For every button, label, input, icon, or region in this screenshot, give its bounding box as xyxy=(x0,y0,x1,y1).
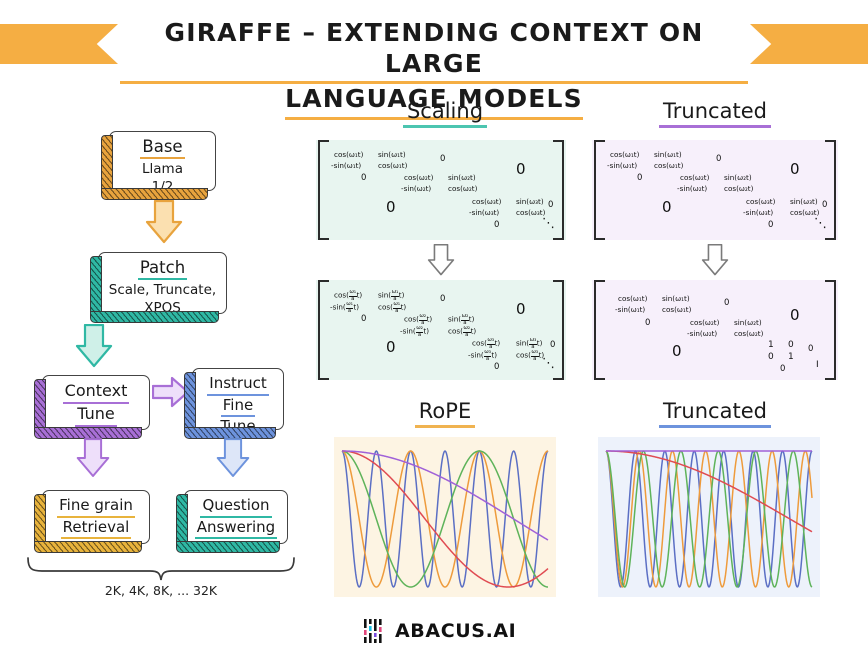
abacus-logo: ABACUS.AI xyxy=(363,618,516,644)
abacus-logo-text: ABACUS.AI xyxy=(395,620,516,642)
m1-b3-c21: -sin(ω₃t) xyxy=(469,208,499,217)
qa-line-1: Question xyxy=(200,496,271,518)
m3-zero-d: 0 xyxy=(662,198,672,216)
m4-identity-12: 0 xyxy=(788,340,794,350)
context-tune-line-1: Context xyxy=(63,381,130,404)
m4-identity-21: 0 xyxy=(768,352,774,362)
m3-b1-c22: cos(ω₁t) xyxy=(654,161,683,170)
m2-frac-7: ω₂a xyxy=(416,326,424,338)
m3-b3-c11: cos(ω₃t) xyxy=(746,197,775,206)
title-banner: GIRAFFE – EXTENDING CONTEXT ON LARGE LAN… xyxy=(0,18,868,90)
logo-word: ABACUS xyxy=(395,620,486,642)
m1-ellipsis: ⋱ xyxy=(542,216,556,231)
arrow-patch-to-context-icon xyxy=(74,324,114,368)
matrix-scaling-bottom: cos(ω₁at) sin(ω₁at) -sin(ω₁at) cos(ω₁at)… xyxy=(316,280,566,380)
flow-box-question-answering[interactable]: Question Answering xyxy=(184,490,288,544)
m2-zero-d: 0 xyxy=(386,338,396,356)
matrix-bracket-left xyxy=(594,140,605,240)
ribbon-right-icon xyxy=(750,24,868,64)
context-tune-line-2: Tune xyxy=(75,404,116,427)
m4-identity-22: 1 xyxy=(788,352,794,362)
m2-b1-c21: -sin(ω₁at) xyxy=(330,302,359,314)
m2-frac-8: ω₂a xyxy=(463,326,471,338)
m4-identity-11: 1 xyxy=(768,340,774,350)
arrow-context-to-retrieval-icon xyxy=(75,438,111,478)
m4-b1-c12: sin(ω₁t) xyxy=(662,294,690,303)
flow-box-base-sub1: Llama xyxy=(116,161,209,177)
m1-zero-e: 0 xyxy=(548,200,553,210)
scaling-label-text: Scaling xyxy=(403,100,487,128)
m2-b1-c22: cos(ω₁at) xyxy=(378,302,406,314)
m1-b2-c12: sin(ω₂t) xyxy=(448,173,476,182)
arrow-scaling-transform-icon xyxy=(424,244,458,276)
m4-zero-c: 0 xyxy=(645,318,650,328)
chart-truncated xyxy=(598,437,820,597)
m1-b3-c12: sin(ω₃t) xyxy=(516,197,544,206)
m2-frac-3: ω₁a xyxy=(346,302,354,314)
m4-b2-c22: cos(ω₂t) xyxy=(734,329,763,338)
m1-b1-c21: -sin(ω₁t) xyxy=(331,161,361,170)
m1-b2-c21: -sin(ω₂t) xyxy=(401,184,431,193)
flow-box-context-tune[interactable]: Context Tune xyxy=(42,375,150,430)
retrieval-line-2: Retrieval xyxy=(61,518,132,540)
m3-ellipsis: ⋱ xyxy=(814,216,828,231)
m4-b1-c11: cos(ω₁t) xyxy=(618,294,647,303)
matrix-bracket-left xyxy=(318,140,329,240)
arrow-base-to-patch-icon xyxy=(144,200,184,244)
matrix-bracket-left xyxy=(594,280,605,380)
rope-label-text: RoPE xyxy=(415,400,475,428)
flow-box-fine-grain-retrieval-text: Fine grain Retrieval xyxy=(49,496,143,539)
m4-zero-d: 0 xyxy=(672,342,682,360)
m2-zero-b: 0 xyxy=(516,300,526,318)
qa-line-2: Answering xyxy=(195,518,277,540)
truncated-matrix-label-text: Truncated xyxy=(659,100,771,128)
flow-box-question-answering-text: Question Answering xyxy=(191,496,281,539)
m2-b1-c12: sin(ω₁at) xyxy=(378,290,404,302)
m3-zero-f: 0 xyxy=(768,220,773,230)
m1-b3-c22: cos(ω₃t) xyxy=(516,208,545,217)
m4-tail-identity: I xyxy=(816,360,819,370)
m3-b3-c21: -sin(ω₃t) xyxy=(743,208,773,217)
flow-box-patch[interactable]: Patch Scale, Truncate, XPOS xyxy=(98,252,227,314)
matrix-truncated-top: cos(ω₁t) sin(ω₁t) -sin(ω₁t) cos(ω₁t) 0 0… xyxy=(592,140,838,240)
m3-b2-c22: cos(ω₂t) xyxy=(724,184,753,193)
flow-box-base-title: Base xyxy=(140,137,184,159)
flow-box-base-sub2: 1/2 xyxy=(116,179,209,195)
m2-zero-f: 0 xyxy=(494,362,499,372)
m3-b2-c11: cos(ω₂t) xyxy=(680,173,709,182)
retrieval-line-1: Fine grain xyxy=(57,496,135,518)
matrix-scaling-top: cos(ω₁t) sin(ω₁t) -sin(ω₁t) cos(ω₁t) 0 0… xyxy=(316,140,566,240)
m1-zero-b: 0 xyxy=(516,160,526,178)
matrix-bracket-left xyxy=(318,280,329,380)
brace-icon xyxy=(26,556,296,582)
truncated-chart-svg xyxy=(598,437,820,597)
m2-frac-12: ω₃a xyxy=(531,350,539,362)
matrix-bracket-right xyxy=(825,280,836,380)
m1-zero-c: 0 xyxy=(361,173,366,183)
section-label-truncated-plot: Truncated xyxy=(600,400,830,428)
section-label-truncated-matrix: Truncated xyxy=(600,100,830,128)
m2-b3-c21: -sin(ω₃at) xyxy=(468,350,497,362)
ribbon-left-icon xyxy=(0,24,118,64)
m3-b1-c21: -sin(ω₁t) xyxy=(607,161,637,170)
abacus-logo-mark-icon xyxy=(363,618,387,644)
m1-zero-d: 0 xyxy=(386,198,396,216)
m1-b1-c11: cos(ω₁t) xyxy=(334,150,363,159)
m1-b1-c12: sin(ω₁t) xyxy=(378,150,406,159)
rope-chart-svg xyxy=(334,437,556,597)
m3-b2-c21: -sin(ω₂t) xyxy=(677,184,707,193)
m1-b3-c11: cos(ω₃t) xyxy=(472,197,501,206)
brace-caption: 2K, 4K, 8K, ... 32K xyxy=(26,583,296,598)
instruct-line-3: Tune xyxy=(218,417,257,439)
instruct-line-1: Instruct xyxy=(207,374,268,396)
m2-b2-c12: sin(ω₂at) xyxy=(448,314,474,326)
m2-frac-4: ω₁a xyxy=(393,302,401,314)
flow-box-base[interactable]: Base Llama 1/2 xyxy=(109,131,216,191)
m3-zero-e: 0 xyxy=(822,200,827,210)
m3-b2-c12: sin(ω₂t) xyxy=(724,173,752,182)
title-line-1: GIRAFFE – EXTENDING CONTEXT ON LARGE xyxy=(120,18,748,84)
m2-zero-a: 0 xyxy=(440,294,445,304)
section-label-scaling: Scaling xyxy=(330,100,560,128)
matrix-truncated-bottom: cos(ω₁t) sin(ω₁t) -sin(ω₁t) cos(ω₁t) 0 0… xyxy=(592,280,838,380)
m4-zero-a: 0 xyxy=(724,298,729,308)
m1-zero-f: 0 xyxy=(494,220,499,230)
m2-b2-c21: -sin(ω₂at) xyxy=(400,326,429,338)
section-label-rope-plot: RoPE xyxy=(330,400,560,428)
m4-b2-c21: -sin(ω₂t) xyxy=(687,329,717,338)
arrow-truncated-transform-icon xyxy=(698,244,732,276)
m4-b2-c11: cos(ω₂t) xyxy=(690,318,719,327)
m3-b1-c11: cos(ω₁t) xyxy=(610,150,639,159)
m3-b1-c12: sin(ω₁t) xyxy=(654,150,682,159)
logo-suffix: .AI xyxy=(486,620,517,642)
flow-box-fine-grain-retrieval[interactable]: Fine grain Retrieval xyxy=(42,490,150,544)
m2-ellipsis: ⋱ xyxy=(542,356,556,371)
m2-zero-c: 0 xyxy=(361,314,366,324)
flow-box-context-tune-text: Context Tune xyxy=(49,381,143,427)
m3-zero-a: 0 xyxy=(716,154,721,164)
flow-box-patch-sub2: XPOS xyxy=(105,300,220,316)
m2-frac-11: ω₃a xyxy=(484,350,492,362)
m2-b2-c22: cos(ω₂at) xyxy=(448,326,476,338)
m4-zero-e: 0 xyxy=(808,344,813,354)
m4-zero-f: 0 xyxy=(780,364,785,374)
m4-b2-c12: sin(ω₂t) xyxy=(734,318,762,327)
m3-zero-b: 0 xyxy=(790,160,800,178)
m1-b2-c11: cos(ω₂t) xyxy=(404,173,433,182)
flow-box-instruct-fine-tune[interactable]: Instruct Fine Tune xyxy=(192,368,284,430)
instruct-line-2: Fine xyxy=(221,396,255,418)
m1-zero-a: 0 xyxy=(440,154,445,164)
m2-b3-c12: sin(ω₃at) xyxy=(516,338,542,350)
chart-rope xyxy=(334,437,556,597)
m2-b3-c22: cos(ω₃at) xyxy=(516,350,544,362)
m3-zero-c: 0 xyxy=(637,173,642,183)
flow-box-patch-title: Patch xyxy=(138,258,187,280)
m4-zero-b: 0 xyxy=(790,306,800,324)
m4-b1-c21: -sin(ω₁t) xyxy=(615,305,645,314)
m2-zero-e: 0 xyxy=(550,340,555,350)
truncated-plot-label-text: Truncated xyxy=(659,400,771,428)
arrow-instruct-to-qa-icon xyxy=(215,438,251,478)
m4-b1-c22: cos(ω₁t) xyxy=(662,305,691,314)
m1-b2-c22: cos(ω₂t) xyxy=(448,184,477,193)
flow-box-instruct-fine-tune-text: Instruct Fine Tune xyxy=(199,374,277,439)
arrow-context-to-instruct-icon xyxy=(152,375,190,409)
m3-b3-c12: sin(ω₃t) xyxy=(790,197,818,206)
flow-box-patch-sub1: Scale, Truncate, xyxy=(105,282,220,298)
m1-b1-c22: cos(ω₁t) xyxy=(378,161,407,170)
